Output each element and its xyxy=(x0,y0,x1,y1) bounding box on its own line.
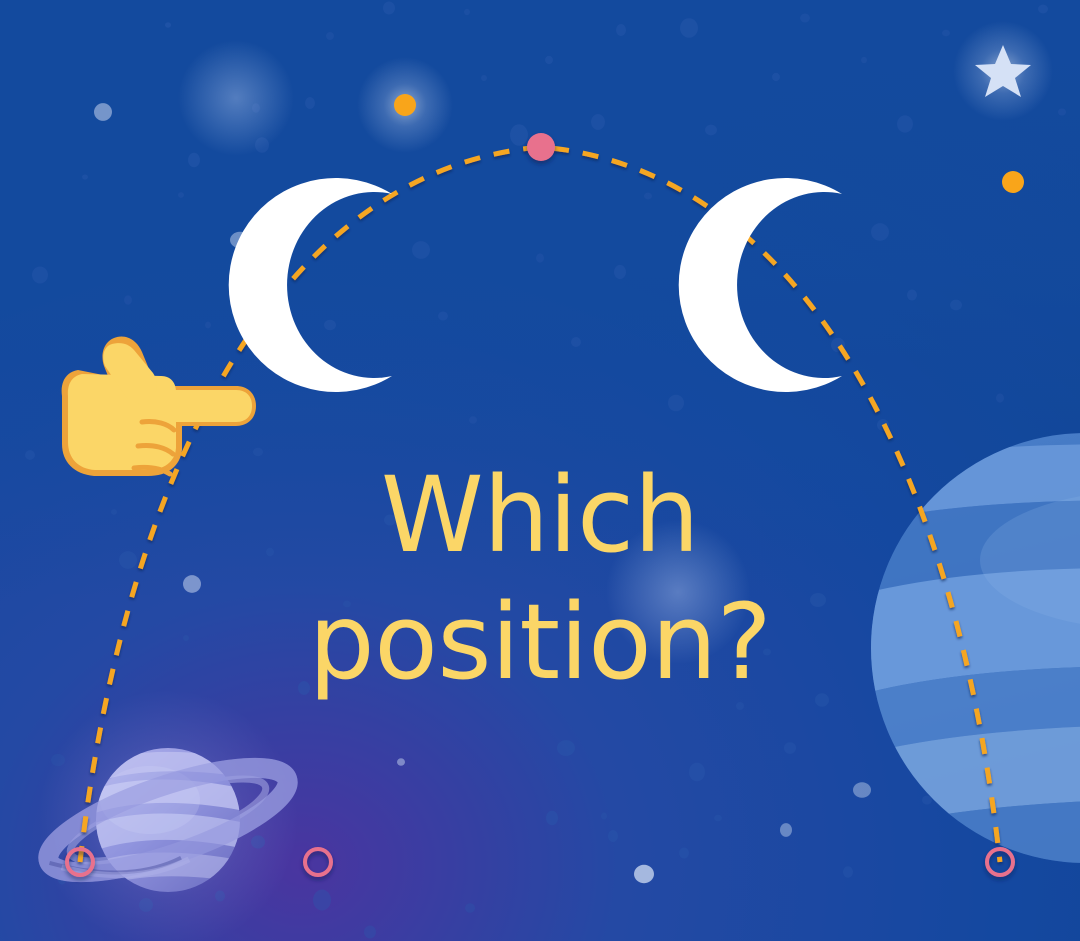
star-dot xyxy=(119,551,137,569)
star-dot xyxy=(205,322,211,329)
scene-canvas xyxy=(0,0,1080,941)
star-dot xyxy=(383,1,395,14)
star-dot xyxy=(897,115,913,132)
star-dot xyxy=(996,393,1004,402)
star-dot xyxy=(425,639,435,649)
star-dot xyxy=(324,320,336,330)
star-dot xyxy=(82,174,88,179)
star-dot xyxy=(183,575,201,593)
star-dot xyxy=(124,295,132,304)
star-dot xyxy=(800,13,810,22)
star-dot xyxy=(32,266,48,283)
star-dot xyxy=(188,153,200,167)
star-dot xyxy=(922,795,932,804)
star-dot xyxy=(815,693,829,706)
star-dot xyxy=(464,9,470,15)
star-dot xyxy=(183,635,189,641)
star-dot xyxy=(591,114,605,130)
star-dot xyxy=(545,56,553,64)
star-dot xyxy=(510,124,528,146)
star-dot xyxy=(397,758,405,766)
star-dot xyxy=(469,416,477,423)
star-dot xyxy=(165,22,171,28)
star-dot xyxy=(668,395,684,411)
star-dot xyxy=(546,811,558,825)
star-dot xyxy=(438,311,448,320)
star-dot xyxy=(772,73,780,81)
star-dot xyxy=(343,601,351,608)
star-dot xyxy=(1038,5,1048,14)
star-dot xyxy=(843,866,853,877)
star-dot xyxy=(608,830,618,842)
star-dot xyxy=(305,97,315,109)
star-dot xyxy=(784,742,796,754)
star-dot xyxy=(853,782,871,797)
star-dot xyxy=(601,812,607,819)
star-dot xyxy=(861,57,867,64)
space-scene: Which position? xyxy=(0,0,1080,941)
star-dot xyxy=(714,815,722,822)
star-dot xyxy=(907,289,917,300)
star-dot xyxy=(313,890,331,911)
orange-dot xyxy=(394,94,416,116)
saturn-planet xyxy=(38,690,298,941)
star-dot xyxy=(763,649,771,656)
star-dot xyxy=(266,548,274,557)
star-dot xyxy=(111,509,117,515)
glowing-star xyxy=(953,21,1053,121)
star-dot xyxy=(384,514,396,525)
nebula-glow-topleft xyxy=(178,40,294,156)
star-dot xyxy=(780,823,792,837)
star-dot xyxy=(689,763,705,782)
star-dot xyxy=(94,103,112,121)
star-dot xyxy=(705,125,717,136)
star-dot xyxy=(571,337,581,347)
star-dot xyxy=(644,193,652,200)
star-dot xyxy=(326,32,334,40)
star-dot xyxy=(412,241,430,259)
star-dot xyxy=(679,848,689,859)
orange-glow-dot-top xyxy=(357,57,453,153)
star-dot xyxy=(25,450,35,460)
star-dot xyxy=(634,865,654,883)
star-dot xyxy=(364,926,376,939)
star-dot xyxy=(465,903,475,913)
star-dot xyxy=(616,24,626,36)
orange-dot-right xyxy=(1002,171,1024,193)
position-marker-apex[interactable] xyxy=(527,133,555,161)
star-dot xyxy=(298,681,310,695)
nebula-glow-center xyxy=(606,520,750,664)
star-dot xyxy=(1058,108,1066,115)
star-dot xyxy=(178,192,184,198)
star-dot xyxy=(253,448,263,456)
star-dot xyxy=(736,702,744,710)
star-dot xyxy=(942,30,950,37)
star-dot xyxy=(614,265,626,279)
star-dot xyxy=(810,593,826,607)
hand-index-finger xyxy=(156,390,252,422)
star-dot xyxy=(871,223,889,241)
star-dot xyxy=(680,18,698,38)
star-dot xyxy=(557,740,575,756)
star-dot xyxy=(536,253,544,262)
star-dot xyxy=(481,75,487,81)
star-dot xyxy=(950,300,962,311)
